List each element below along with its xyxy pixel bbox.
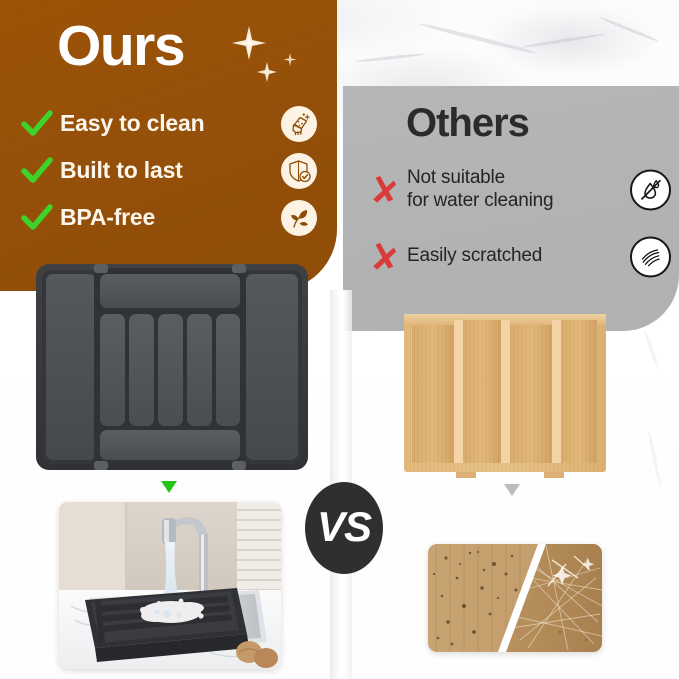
others-panel: Others Not suitable for water cleaning (343, 86, 679, 331)
scratch-lines-icon (630, 236, 671, 277)
product-image-others (398, 306, 612, 482)
ours-feature-list: Easy to clean (14, 100, 324, 241)
check-icon (14, 204, 60, 232)
others-feature-label: Easily scratched (407, 245, 542, 267)
cross-icon (361, 175, 407, 205)
others-title: Others (406, 103, 529, 143)
ours-panel: Ours Easy to clean (0, 0, 337, 291)
others-feature-label: Not suitable for water cleaning (407, 167, 553, 212)
check-icon (14, 157, 60, 185)
ours-feature-label: Built to last (60, 157, 183, 184)
cross-icon (361, 242, 407, 272)
no-water-icon (630, 169, 671, 210)
shield-check-icon (281, 153, 317, 189)
ours-feature-row: Easy to clean (14, 100, 324, 147)
ours-feature-row: BPA-free (14, 194, 324, 241)
vs-label: VS (317, 506, 371, 548)
hand-sponge-icon (281, 106, 317, 142)
ours-feature-row: Built to last (14, 147, 324, 194)
comparison-infographic: Ours Easy to clean (0, 0, 679, 679)
others-feature-list: Not suitable for water cleaning (361, 166, 679, 280)
arrow-down-gray-icon (504, 484, 520, 496)
ours-title: Ours (57, 18, 184, 75)
arrow-down-green-icon (161, 481, 177, 493)
photo-washing-tray (59, 502, 281, 669)
ours-feature-label: Easy to clean (60, 110, 204, 137)
photo-damaged-wood (428, 544, 602, 652)
product-image-ours (28, 258, 316, 486)
check-icon (14, 110, 60, 138)
leaf-plant-icon (281, 200, 317, 236)
ours-feature-label: BPA-free (60, 204, 155, 231)
sparkle-icon (218, 18, 308, 98)
others-feature-row: Easily scratched (361, 233, 679, 280)
others-feature-row: Not suitable for water cleaning (361, 166, 679, 213)
vs-badge: VS (305, 482, 383, 574)
